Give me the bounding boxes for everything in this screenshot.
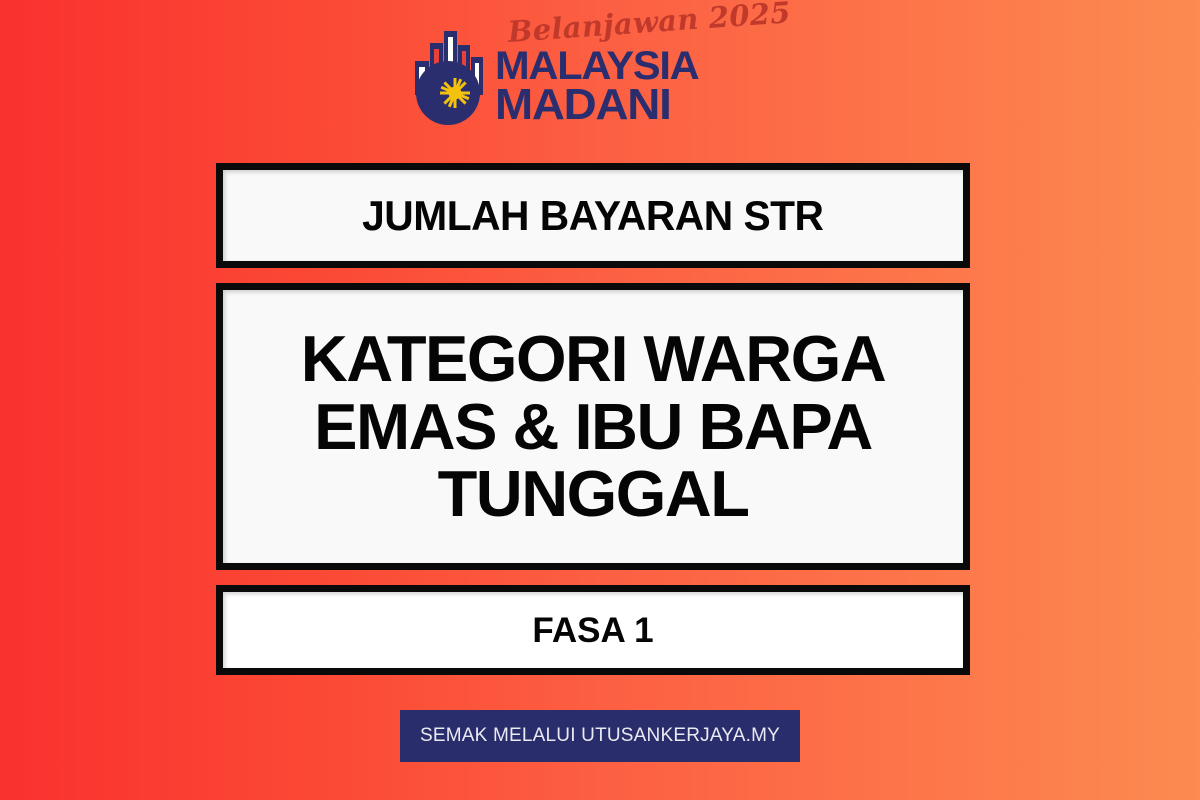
headline-text: KATEGORI WARGA EMAS & IBU BAPA TUNGGAL: [287, 325, 899, 528]
budget-script-text: Belanjawan 2025: [507, 0, 792, 47]
malaysia-madani-logo: Belanjawan 2025 MALAYSIA MADANI: [0, 18, 1200, 138]
phase-panel: FASA 1: [216, 585, 970, 675]
poster-canvas: Belanjawan 2025 MALAYSIA MADANI JUMLAH B…: [0, 0, 1200, 800]
headline-line-3: TUNGGAL: [301, 460, 885, 528]
source-banner-label: SEMAK MELALUI UTUSANKERJAYA.MY: [420, 725, 780, 747]
subtitle-text: JUMLAH BAYARAN STR: [349, 195, 838, 237]
logo-inner: Belanjawan 2025 MALAYSIA MADANI: [407, 18, 792, 127]
source-banner[interactable]: SEMAK MELALUI UTUSANKERJAYA.MY: [400, 710, 800, 762]
headline-line-2: EMAS & IBU BAPA: [301, 393, 885, 461]
headline-line-1: KATEGORI WARGA: [301, 325, 885, 393]
malaysia-madani-emblem-icon: [407, 23, 489, 127]
subtitle-panel: JUMLAH BAYARAN STR: [216, 163, 970, 268]
logo-wordmark: Belanjawan 2025 MALAYSIA MADANI: [495, 18, 792, 127]
phase-text: FASA 1: [518, 613, 667, 648]
headline-panel: KATEGORI WARGA EMAS & IBU BAPA TUNGGAL: [216, 283, 970, 570]
wordmark-madani: MADANI: [495, 85, 804, 125]
